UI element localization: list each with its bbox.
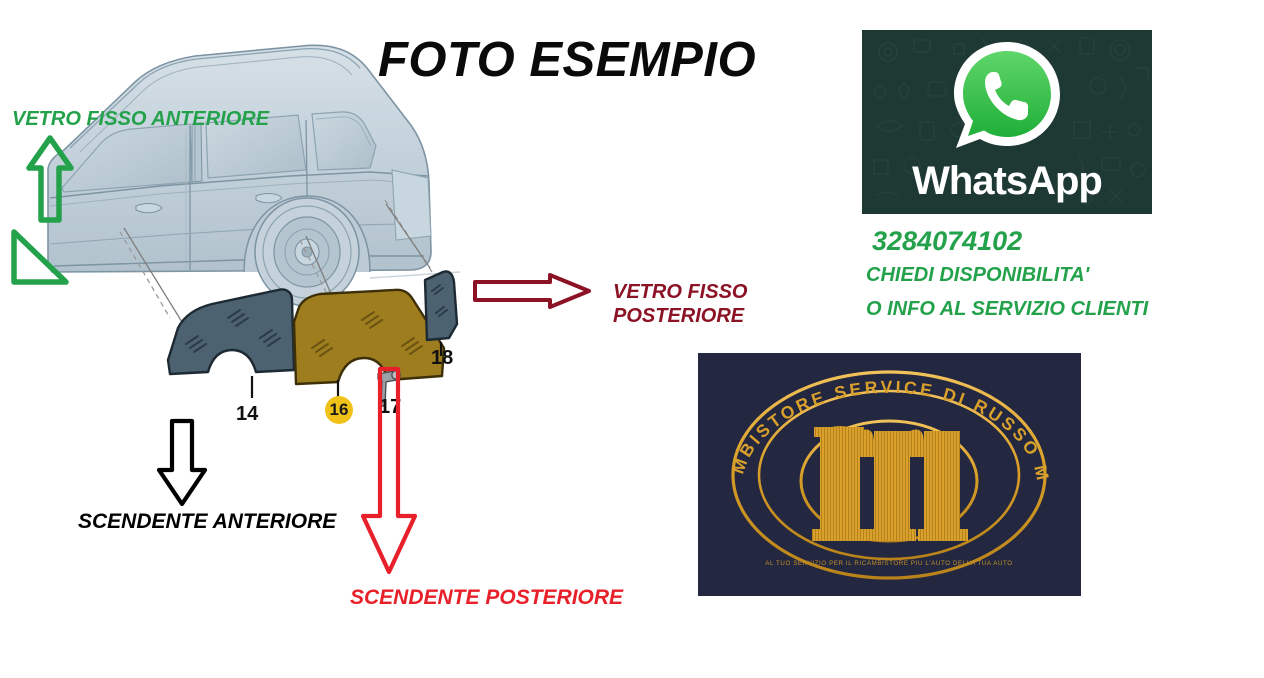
- contact-line-1: CHIEDI DISPONIBILITA': [866, 264, 1089, 287]
- store-logo-artwork: MRICAMBISTORE SERVICE DI RUSSO MARCO: [698, 353, 1081, 596]
- label-vetro-fisso-posteriore-line1: VETRO FISSO: [613, 280, 747, 304]
- whatsapp-phone-bubble-icon: [948, 36, 1066, 154]
- label-scendente-anteriore: SCENDENTE ANTERIORE: [78, 509, 336, 534]
- down-arrow-outline-black-icon: [155, 418, 209, 508]
- right-arrow-outline-darkred-icon: [472, 272, 592, 310]
- poster-canvas: 14 16 17 18 FOTO ESEMPIO VETRO FISSO ANT…: [0, 0, 1264, 678]
- rear-quarter-glass-part: [415, 268, 465, 358]
- part-number-18: 18: [431, 347, 453, 370]
- down-arrow-outline-red-icon: [358, 366, 420, 578]
- store-logo: MRICAMBISTORE SERVICE DI RUSSO MARCO: [698, 353, 1081, 596]
- contact-line-2: O INFO AL SERVIZIO CLIENTI: [866, 298, 1148, 321]
- phone-number[interactable]: 3284074102: [872, 226, 1022, 257]
- label-vetro-fisso-posteriore-line2: POSTERIORE: [613, 304, 747, 328]
- label-vetro-fisso-anteriore: VETRO FISSO ANTERIORE: [12, 108, 269, 130]
- triangle-outline-green-icon: [8, 226, 70, 288]
- part-number-14: 14: [236, 403, 258, 426]
- store-logo-inner-text: AL TUO SERVIZIO PER IL RICAMBISTORE PIU …: [765, 560, 1012, 567]
- label-vetro-fisso-posteriore: VETRO FISSO POSTERIORE: [613, 280, 747, 328]
- part-number-16-marker: 16: [325, 396, 353, 424]
- whatsapp-wordmark: WhatsApp: [862, 159, 1152, 204]
- up-arrow-outline-green-icon: [26, 134, 74, 224]
- page-title: FOTO ESEMPIO: [378, 36, 798, 85]
- whatsapp-banner[interactable]: WhatsApp: [862, 30, 1152, 214]
- label-scendente-posteriore: SCENDENTE POSTERIORE: [350, 585, 623, 610]
